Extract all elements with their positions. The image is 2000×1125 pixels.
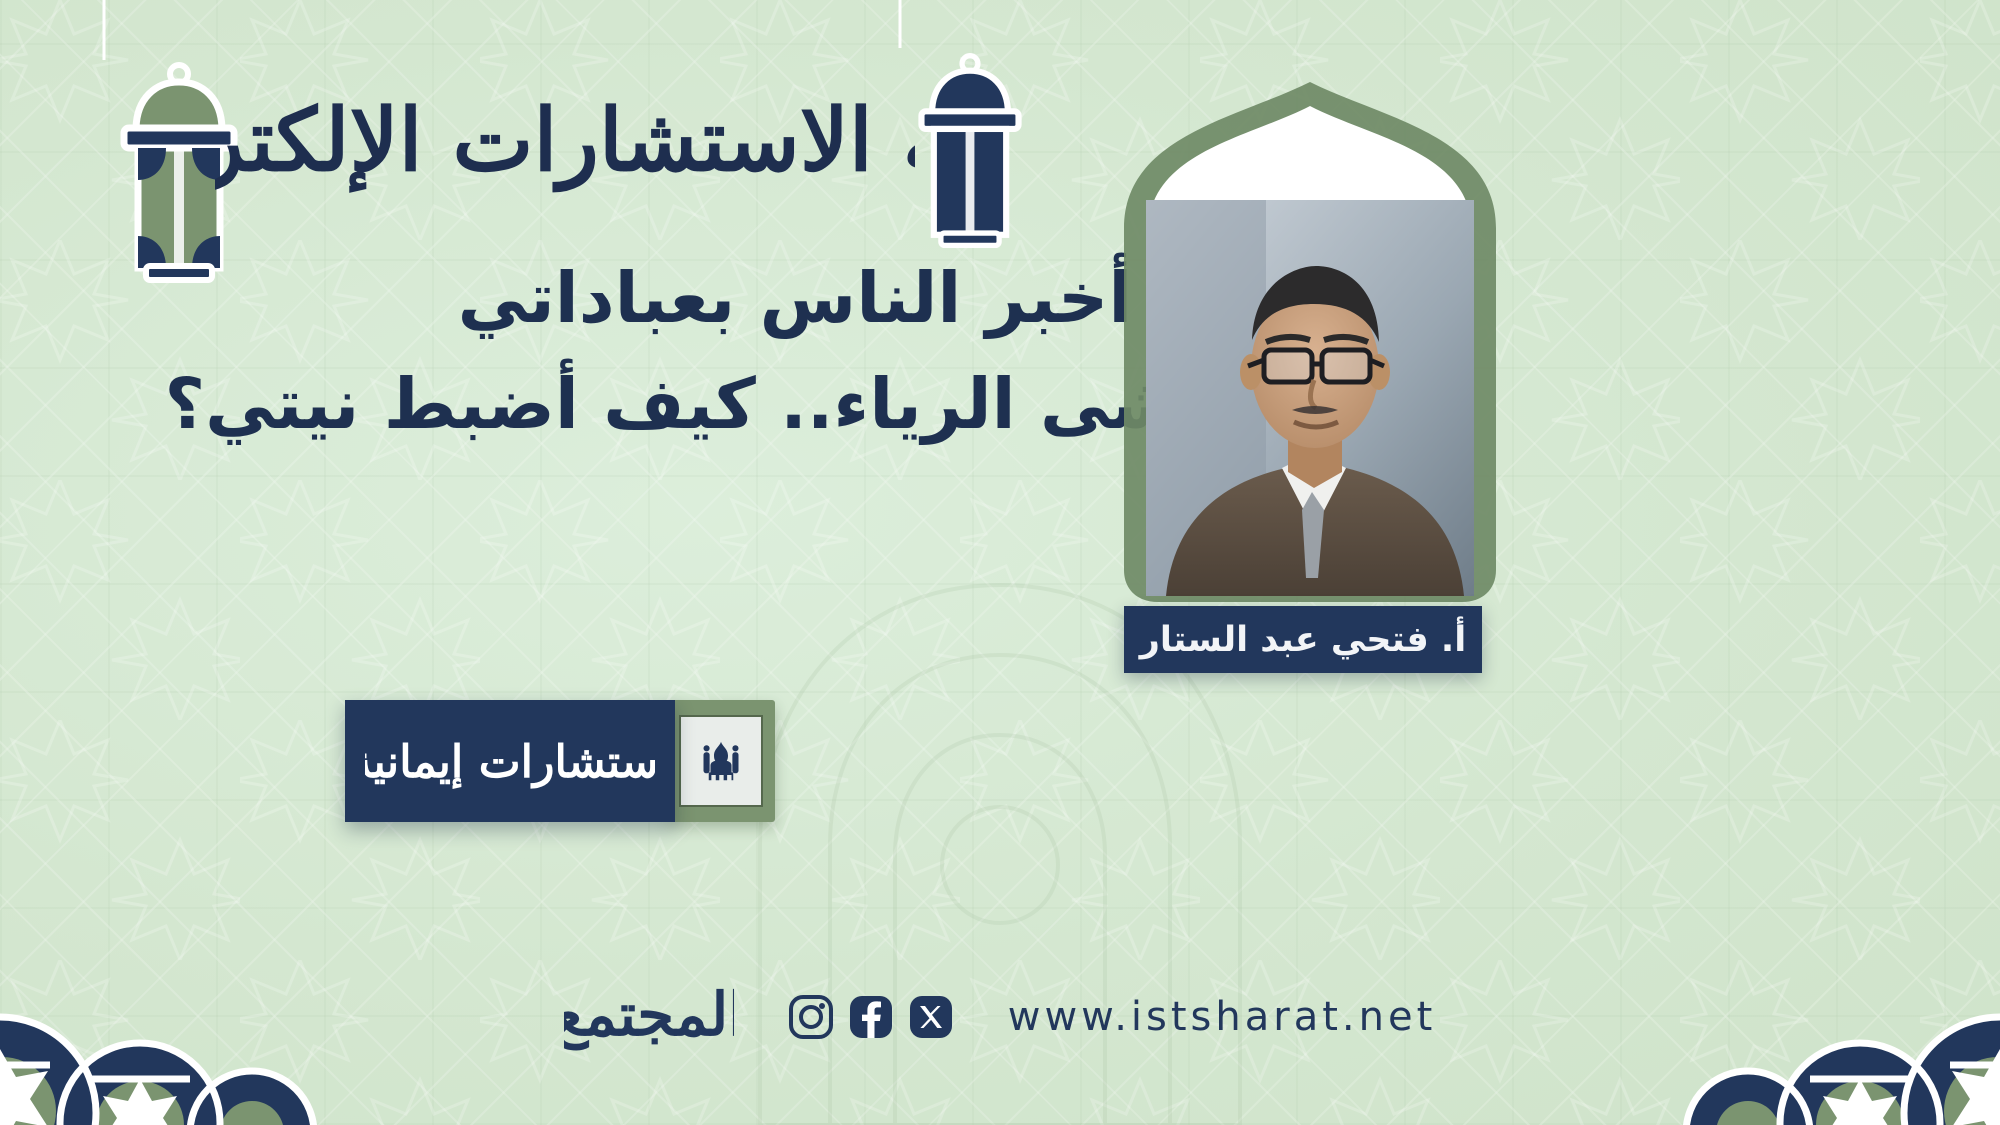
speaker-name-text: أ. فتحي عبد الستار: [1140, 620, 1466, 660]
footer-bar: المجتمع: [0, 957, 2000, 1077]
category-label-panel: استشارات إيمانية: [345, 700, 675, 822]
lantern-cord: [899, 0, 902, 48]
speaker-card: أ. فتحي عبد الستار: [1120, 78, 1920, 778]
poster-canvas: بوابة الاستشارات الإلكترونية أخبر الناس …: [0, 0, 2000, 1125]
lantern-cord: [103, 0, 106, 60]
category-icon-frame: [667, 700, 775, 822]
brand-logo-calligraphy: المجتمع: [564, 962, 734, 1072]
speaker-photo: [1146, 200, 1474, 596]
category-label-text: استشارات إيمانية: [365, 735, 655, 788]
speaker-name-plate: أ. فتحي عبد الستار: [1124, 606, 1482, 673]
x-icon[interactable]: [908, 994, 954, 1040]
header-calligraphy: بوابة الاستشارات الإلكترونية: [215, 62, 915, 207]
brand-logo-text: المجتمع: [564, 980, 734, 1051]
social-links[interactable]: [788, 994, 954, 1040]
instagram-icon[interactable]: [788, 994, 834, 1040]
category-icon-card: [679, 715, 763, 807]
header-calligraphy-text: بوابة الاستشارات الإلكترونية: [215, 90, 915, 193]
mosque-icon: [693, 733, 749, 789]
category-plaque: استشارات إيمانية: [345, 700, 775, 822]
speaker-photo-clip: [1146, 200, 1474, 596]
website-url[interactable]: www.istsharat.net: [1008, 994, 1437, 1040]
facebook-icon[interactable]: [848, 994, 894, 1040]
